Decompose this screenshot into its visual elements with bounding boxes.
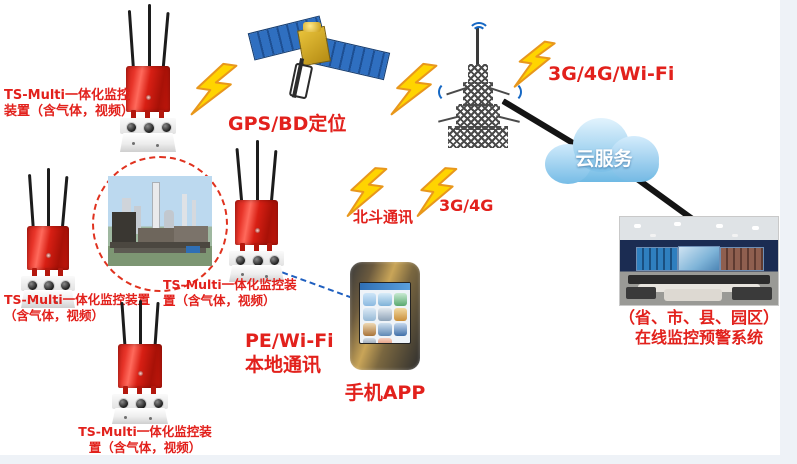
satellite-icon <box>248 6 388 104</box>
label-gps-bd: GPS/BD定位 <box>228 113 346 137</box>
diagram-canvas: 云服务 <box>0 0 780 455</box>
device-bottom-left <box>104 300 180 424</box>
device-top-left <box>112 4 190 152</box>
device-mid-left <box>14 168 88 308</box>
device-top-left-label: TS-Multi一体化监控 装置（含气体，视频） <box>4 88 134 121</box>
device-bottom-left-label: TS-Multi一体化监控装 置（含气体，视频） <box>70 424 220 455</box>
label-phone-app: 手机APP <box>333 382 437 406</box>
bolt-device-to-satellite <box>186 62 242 118</box>
wifi-signal-icon <box>472 26 486 40</box>
device-mid-center <box>222 140 296 282</box>
cloud-service-icon: 云服务 <box>543 110 665 188</box>
device-mid-center-label: TS-Multi一体化监控装 置（含气体，视频） <box>163 277 297 308</box>
label-control-room: （省、市、县、园区） 在线监控预警系统 <box>604 308 780 348</box>
control-room-photo <box>619 216 779 306</box>
refinery-photo <box>108 176 212 266</box>
cloud-label: 云服务 <box>543 144 665 171</box>
label-beidou: 北斗通讯 <box>353 208 413 227</box>
label-3g4g-wifi: 3G/4G/Wi-Fi <box>548 63 674 87</box>
handheld-terminal-icon <box>350 262 420 370</box>
bolt-satellite-to-tower <box>386 62 442 118</box>
label-3g4g: 3G/4G <box>439 196 493 216</box>
label-local-comm: PE/Wi-Fi 本地通讯 <box>245 330 334 378</box>
